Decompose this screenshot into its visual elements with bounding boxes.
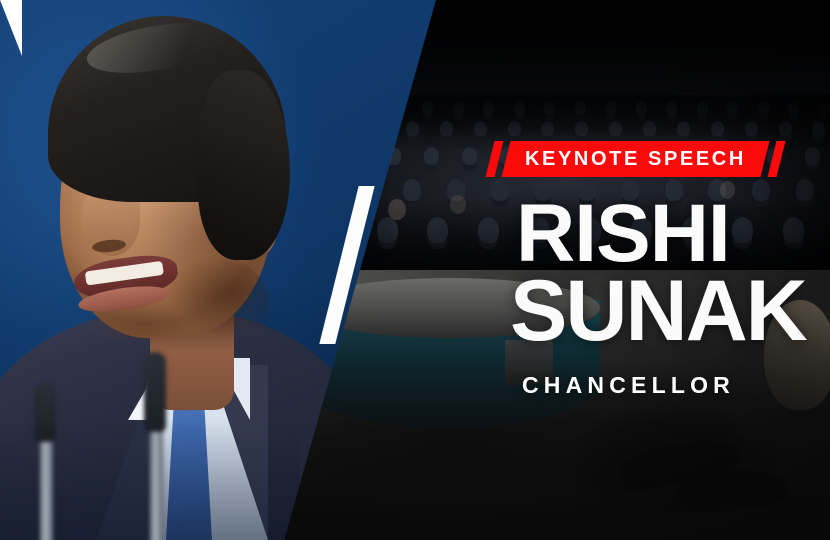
corner-triangle-accent — [0, 0, 22, 56]
subtitle-role: CHANCELLOR — [522, 372, 806, 399]
microphone-head — [34, 382, 56, 442]
banner-body: KEYNOTE SPEECH — [502, 141, 770, 177]
teeth — [85, 261, 164, 286]
microphone-stem — [40, 430, 53, 540]
microphone — [18, 320, 78, 540]
microphone-head — [144, 352, 166, 432]
microphone — [126, 300, 186, 540]
speech-title-card: KEYNOTE SPEECH RISHI SUNAK CHANCELLOR — [0, 0, 830, 540]
title-line-second: SUNAK — [510, 272, 806, 352]
title-block: RISHI SUNAK CHANCELLOR — [516, 196, 806, 399]
banner-label: KEYNOTE SPEECH — [525, 149, 746, 169]
keynote-banner: KEYNOTE SPEECH — [490, 141, 781, 177]
title-line-first: RISHI — [516, 196, 806, 272]
microphone-stem — [150, 420, 163, 540]
